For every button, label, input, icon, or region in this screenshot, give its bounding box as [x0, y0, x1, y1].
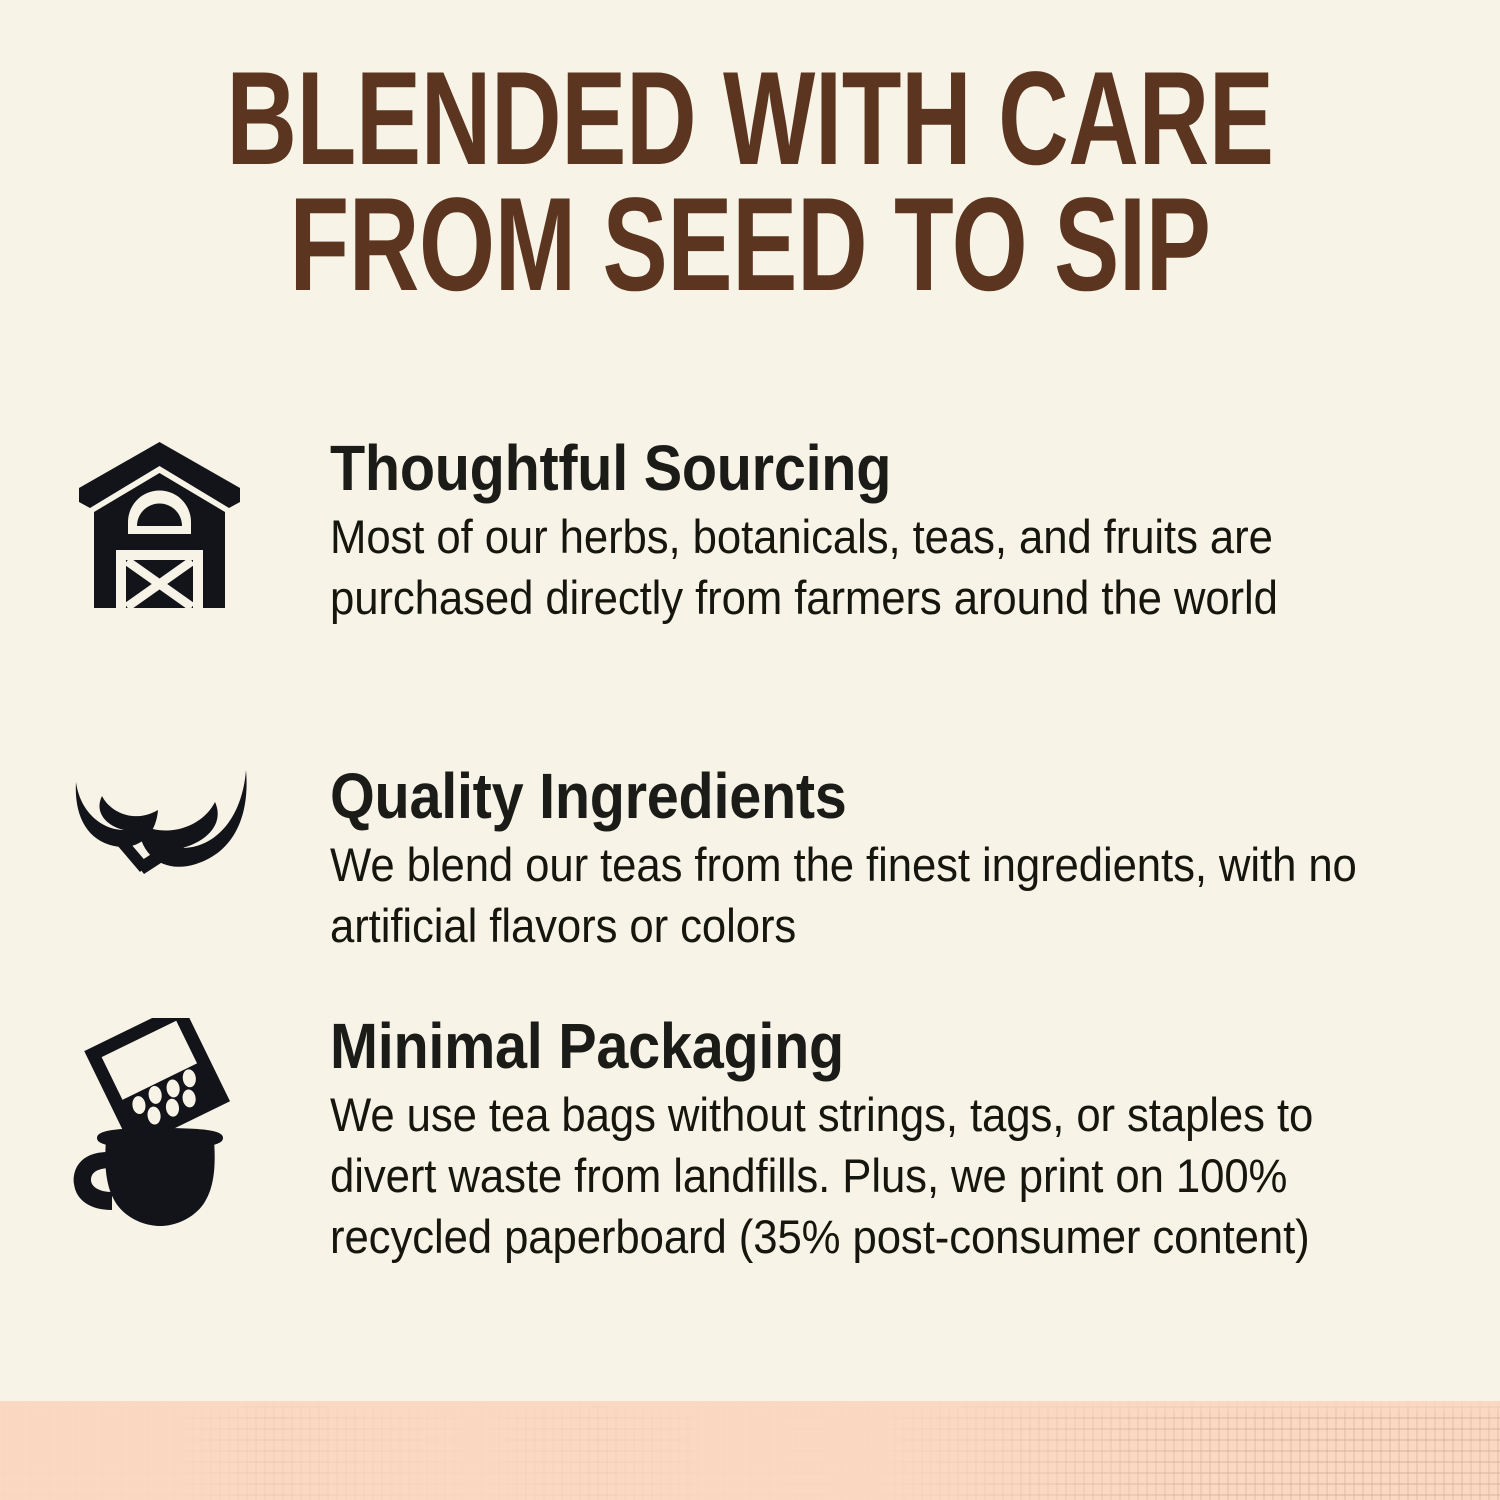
feature-icon-cell	[72, 1014, 330, 1230]
feature-minimal-packaging: Minimal Packaging We use tea bags withou…	[72, 1014, 1432, 1267]
feature-title: Minimal Packaging	[330, 1014, 1347, 1078]
feature-thoughtful-sourcing: Thoughtful Sourcing Most of our herbs, b…	[72, 436, 1432, 628]
feature-body: We use tea bags without strings, tags, o…	[330, 1084, 1381, 1267]
feature-quality-ingredients: Quality Ingredients We blend our teas fr…	[72, 764, 1432, 956]
fabric-top-edge	[0, 1401, 1500, 1419]
fabric-strip	[0, 1401, 1500, 1500]
leaves-icon	[72, 768, 252, 878]
headline-line-1: BLENDED WITH CARE	[199, 58, 1302, 182]
feature-text-cell: Minimal Packaging We use tea bags withou…	[330, 1014, 1460, 1267]
feature-title: Quality Ingredients	[330, 764, 1343, 828]
feature-title: Thoughtful Sourcing	[330, 436, 1322, 500]
feature-icon-cell	[72, 764, 330, 878]
feature-body: Most of our herbs, botanicals, teas, and…	[330, 506, 1293, 628]
feature-icon-cell	[72, 436, 330, 612]
teabag-mug-icon	[72, 1018, 252, 1230]
headline-line-2: FROM SEED TO SIP	[199, 184, 1302, 308]
promo-panel: BLENDED WITH CARE FROM SEED TO SIP	[0, 0, 1500, 1500]
page-title: BLENDED WITH CARE FROM SEED TO SIP	[0, 58, 1500, 307]
feature-body: We blend our teas from the finest ingred…	[330, 834, 1376, 956]
barn-icon	[72, 440, 247, 612]
feature-text-cell: Quality Ingredients We blend our teas fr…	[330, 764, 1455, 956]
feature-text-cell: Thoughtful Sourcing Most of our herbs, b…	[330, 436, 1432, 628]
